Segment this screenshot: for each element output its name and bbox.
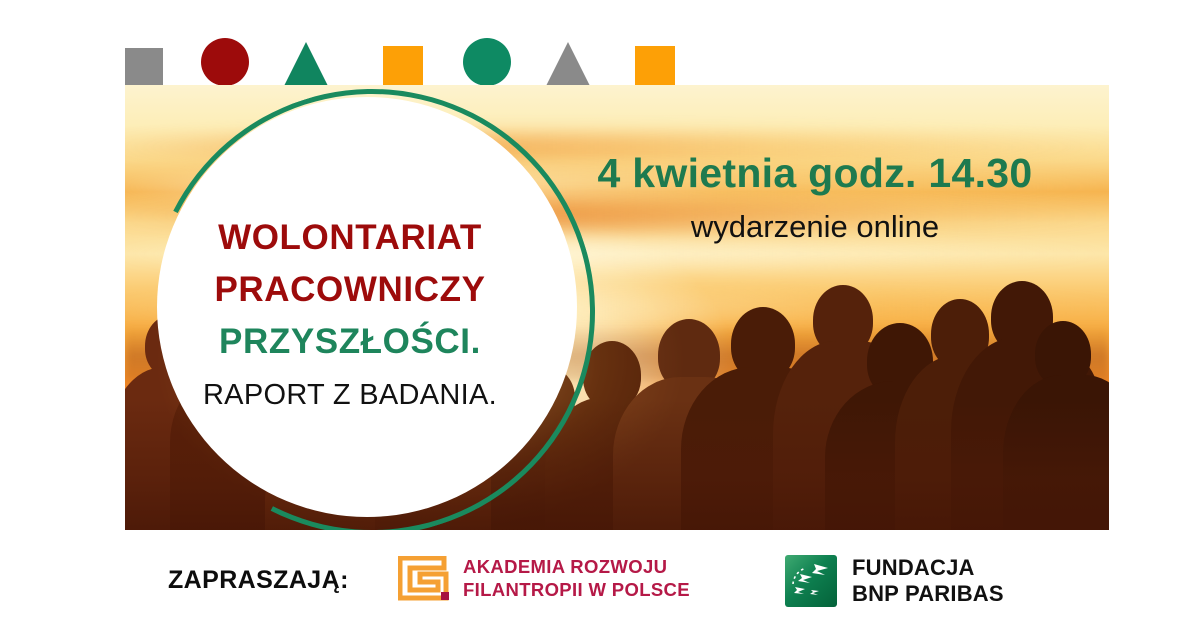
bnp-logo-line-2: BNP PARIBAS — [852, 581, 1004, 607]
arfp-logo-line-2: FILANTROPII W POLSCE — [463, 579, 690, 602]
arfp-logo-icon — [398, 556, 450, 602]
decor-circle-green — [463, 38, 511, 86]
event-date: 4 kwietnia godz. 14.30 — [555, 150, 1075, 197]
decor-triangle-green — [284, 42, 328, 86]
event-mode: wydarzenie online — [555, 209, 1075, 245]
photo-bottom-shade — [125, 400, 1109, 530]
logo-akademia-rozwoju-filantropii[interactable]: AKADEMIA ROZWOJU FILANTROPII W POLSCE — [398, 556, 690, 602]
headline-line-2: PRACOWNICZY — [160, 264, 540, 316]
poster-root: WOLONTARIAT PRACOWNICZY PRZYSZŁOŚCI. RAP… — [0, 0, 1200, 628]
footer: ZAPRASZAJĄ: AKADEMIA ROZWOJU FILANTROPII… — [0, 548, 1200, 628]
headline-line-1: WOLONTARIAT — [160, 212, 540, 264]
headline-block: WOLONTARIAT PRACOWNICZY PRZYSZŁOŚCI. RAP… — [160, 212, 540, 412]
headline-subtitle: RAPORT Z BADANIA. — [160, 379, 540, 412]
event-info-block: 4 kwietnia godz. 14.30 wydarzenie online — [555, 150, 1075, 245]
decor-triangle-grey — [546, 42, 590, 86]
bnp-logo-text: FUNDACJA BNP PARIBAS — [852, 555, 1004, 607]
bnp-paribas-logo-icon — [784, 554, 838, 608]
decor-square-orange-1 — [383, 46, 423, 86]
invite-label: ZAPRASZAJĄ: — [168, 566, 349, 595]
headline-line-3: PRZYSZŁOŚCI. — [160, 316, 540, 368]
decor-square-orange-2 — [635, 46, 675, 86]
decor-circle-dark-red — [201, 38, 249, 86]
decor-square-grey — [125, 48, 163, 86]
logo-fundacja-bnp-paribas[interactable]: FUNDACJA BNP PARIBAS — [784, 554, 1004, 608]
decorative-shape-row — [125, 40, 685, 86]
arfp-logo-text: AKADEMIA ROZWOJU FILANTROPII W POLSCE — [463, 556, 690, 601]
arfp-logo-line-1: AKADEMIA ROZWOJU — [463, 556, 690, 579]
bnp-logo-line-1: FUNDACJA — [852, 555, 1004, 581]
